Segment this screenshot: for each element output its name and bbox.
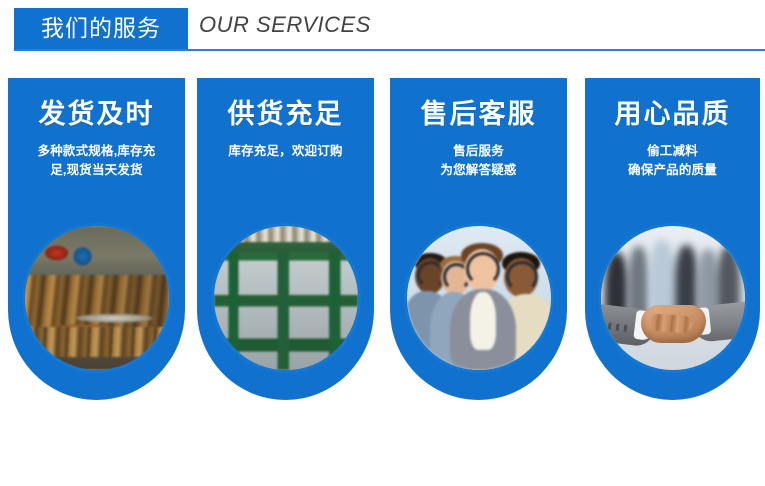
photo-content [25,226,169,370]
call-center-agents-headset-photo [404,223,554,373]
card-subtitle: 售后服务 为您解答疑惑 [400,142,557,181]
card-title: 供货充足 [197,100,374,130]
card-subtitle: 库存充足，欢迎订购 [207,142,364,161]
section-header: 我们的服务 OUR SERVICES [0,0,765,60]
microphone-boom-icon [407,226,430,232]
copper-steel-bars-workshop-photo [22,223,172,373]
service-cards-row: 发货及时 多种款式规格,库存充 足,现货当天发货 供货充足 库存充足，欢迎订购 … [0,78,765,408]
service-card-stock[interactable]: 供货充足 库存充足，欢迎订购 [197,78,374,400]
card-title: 用心品质 [585,100,760,130]
agent-shirt [470,292,496,350]
card-subtitle-line: 售后服务 [400,142,557,161]
card-subtitle-line: 偷工减料 [595,142,750,161]
green-steel-rack-bars-photo [211,223,361,373]
headset-icon [466,252,501,287]
card-subtitle-line: 为您解答疑惑 [400,161,557,180]
card-title: 售后客服 [390,100,567,130]
card-subtitle: 偷工减料 确保产品的质量 [595,142,750,181]
card-subtitle-line: 足,现货当天发货 [18,161,175,180]
headset-icon [506,261,538,293]
card-subtitle: 多种款式规格,库存充 足,现货当天发货 [18,142,175,181]
card-subtitle-line: 确保产品的质量 [595,161,750,180]
service-card-quality[interactable]: 用心品质 偷工减料 确保产品的质量 [585,78,760,400]
fingers [649,314,693,334]
header-divider [14,49,765,51]
service-card-aftersales[interactable]: 售后客服 售后服务 为您解答疑惑 [390,78,567,400]
business-handshake-photo [598,223,748,373]
card-subtitle-line: 库存充足，欢迎订购 [207,142,364,161]
card-title: 发货及时 [8,100,185,130]
service-card-shipping[interactable]: 发货及时 多种款式规格,库存充 足,现货当天发货 [8,78,185,400]
card-subtitle-line: 多种款式规格,库存充 [18,142,175,161]
section-title-tab: 我们的服务 [14,8,188,49]
photo-content [601,226,745,370]
photo-content [407,226,551,370]
services-banner: 我们的服务 OUR SERVICES 发货及时 多种款式规格,库存充 足,现货当… [0,0,765,486]
section-title-en: OUR SERVICES [199,12,371,38]
photo-content [214,226,358,370]
section-title-cn: 我们的服务 [41,17,161,40]
